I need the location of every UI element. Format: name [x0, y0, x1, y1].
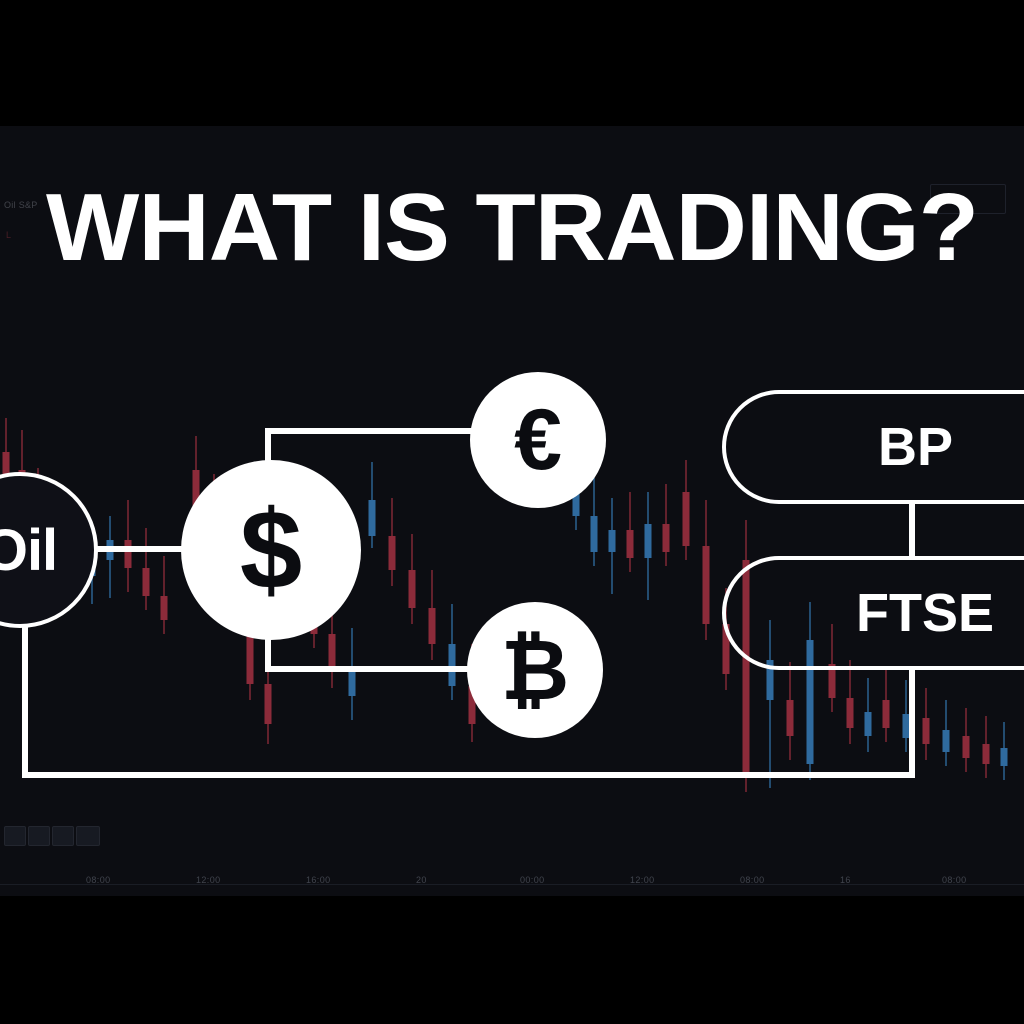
- edge-bp-ftse: [909, 500, 915, 560]
- edge-oil-bottom-stem: [22, 620, 28, 778]
- node-usd[interactable]: $: [181, 460, 361, 640]
- edge-ftse-bottom-stem: [909, 666, 915, 778]
- node-oil-label: Oil: [0, 517, 57, 584]
- edge-oil-usd: [96, 546, 186, 552]
- dollar-icon: $: [240, 494, 302, 606]
- node-oil[interactable]: Oil: [0, 472, 98, 628]
- page-title: WHAT IS TRADING?: [0, 180, 1024, 276]
- node-ftse[interactable]: FTSE: [722, 556, 1024, 670]
- video-frame: Oil S&P L 08:00 12:00 16:00 20 00:00 12:…: [0, 0, 1024, 1024]
- node-bp[interactable]: BP: [722, 390, 1024, 504]
- letterbox-top: [0, 0, 1024, 126]
- asset-relationship-diagram: Oil $ € ₿ BP FTSE: [0, 0, 1024, 1024]
- bitcoin-icon: ₿: [501, 628, 569, 712]
- edge-bottom-rail: [22, 772, 915, 778]
- node-eur[interactable]: €: [470, 372, 606, 508]
- node-ftse-label: FTSE: [856, 582, 994, 644]
- node-btc[interactable]: ₿: [467, 602, 603, 738]
- node-bp-label: BP: [878, 416, 953, 478]
- edge-usd-btc: [265, 666, 490, 672]
- edge-usd-eur: [265, 428, 495, 434]
- euro-icon: €: [514, 397, 562, 483]
- letterbox-bottom: [0, 896, 1024, 1024]
